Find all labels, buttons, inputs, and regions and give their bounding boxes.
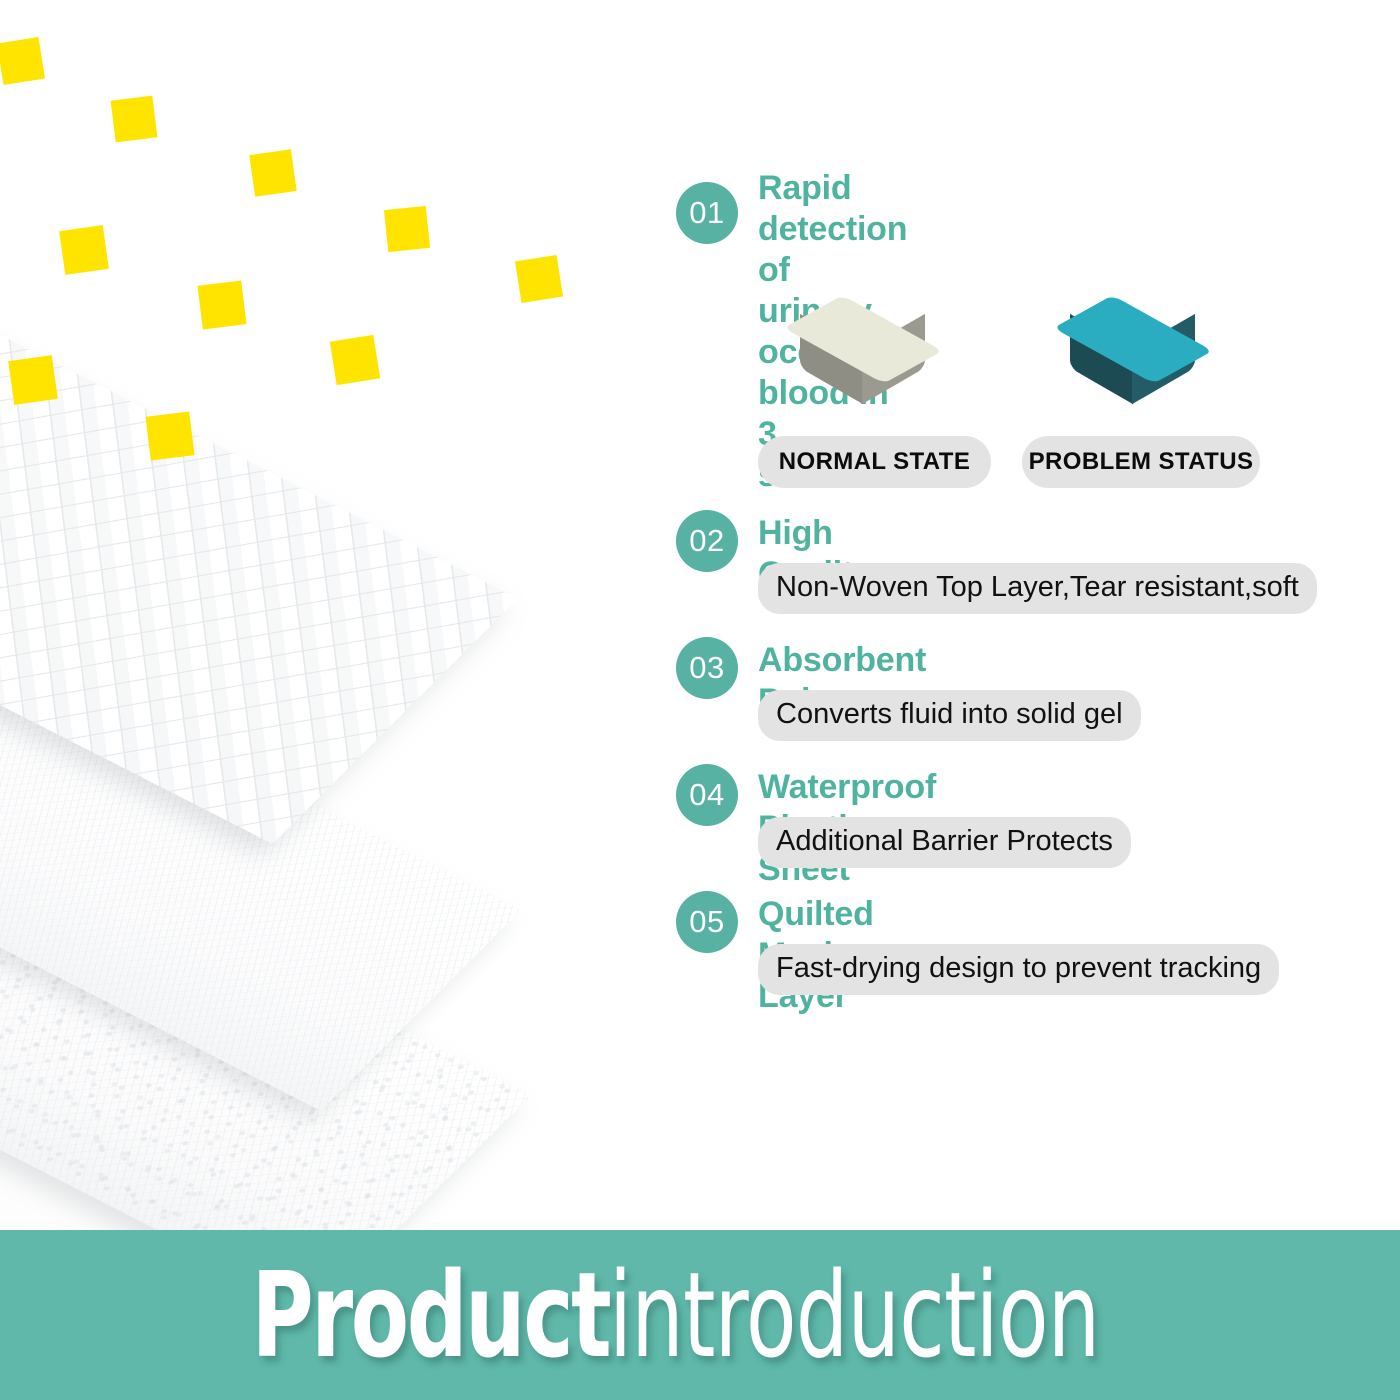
yellow-square-accent bbox=[384, 206, 430, 252]
feature-number-badge-03: 03 bbox=[676, 637, 738, 699]
detection-state-swatches: NORMAL STATE PROBLEM STATUS bbox=[758, 286, 1378, 486]
feature-description-03: Converts fluid into solid gel bbox=[758, 690, 1141, 741]
yellow-square-accent bbox=[0, 37, 45, 85]
yellow-square-accent bbox=[59, 225, 109, 275]
feature-number-badge-02: 02 bbox=[676, 510, 738, 572]
banner-title-bold: Product bbox=[251, 1246, 609, 1384]
yellow-square-accent bbox=[8, 355, 58, 405]
yellow-square-accent bbox=[145, 411, 194, 460]
feature-number-badge-01: 01 bbox=[676, 182, 738, 244]
product-layer-illustration bbox=[0, 0, 700, 1230]
normal-state-cube bbox=[788, 286, 938, 404]
banner-title: Product introduction bbox=[0, 1230, 1400, 1400]
problem-status-cube bbox=[1058, 286, 1208, 404]
problem-status-label-pill: PROBLEM STATUS bbox=[1022, 436, 1260, 488]
yellow-square-accent bbox=[330, 335, 380, 385]
bottom-banner: Product introduction bbox=[0, 1230, 1400, 1400]
feature-description-02: Non-Woven Top Layer,Tear resistant,soft bbox=[758, 563, 1317, 614]
yellow-square-accent bbox=[111, 96, 158, 143]
yellow-square-accent bbox=[197, 280, 246, 329]
feature-description-04: Additional Barrier Protects bbox=[758, 817, 1131, 868]
yellow-square-accent bbox=[515, 255, 563, 303]
feature-number-badge-05: 05 bbox=[676, 891, 738, 953]
yellow-square-accent bbox=[249, 149, 296, 196]
feature-description-05: Fast-drying design to prevent tracking bbox=[758, 944, 1279, 995]
normal-state-label-pill: NORMAL STATE bbox=[758, 436, 991, 488]
infographic-page: 01 Rapid detection of urinary occult blo… bbox=[0, 0, 1400, 1400]
feature-number-badge-04: 04 bbox=[676, 764, 738, 826]
feature-list: 01 Rapid detection of urinary occult blo… bbox=[660, 0, 1400, 1230]
banner-title-light: introduction bbox=[609, 1246, 1099, 1384]
